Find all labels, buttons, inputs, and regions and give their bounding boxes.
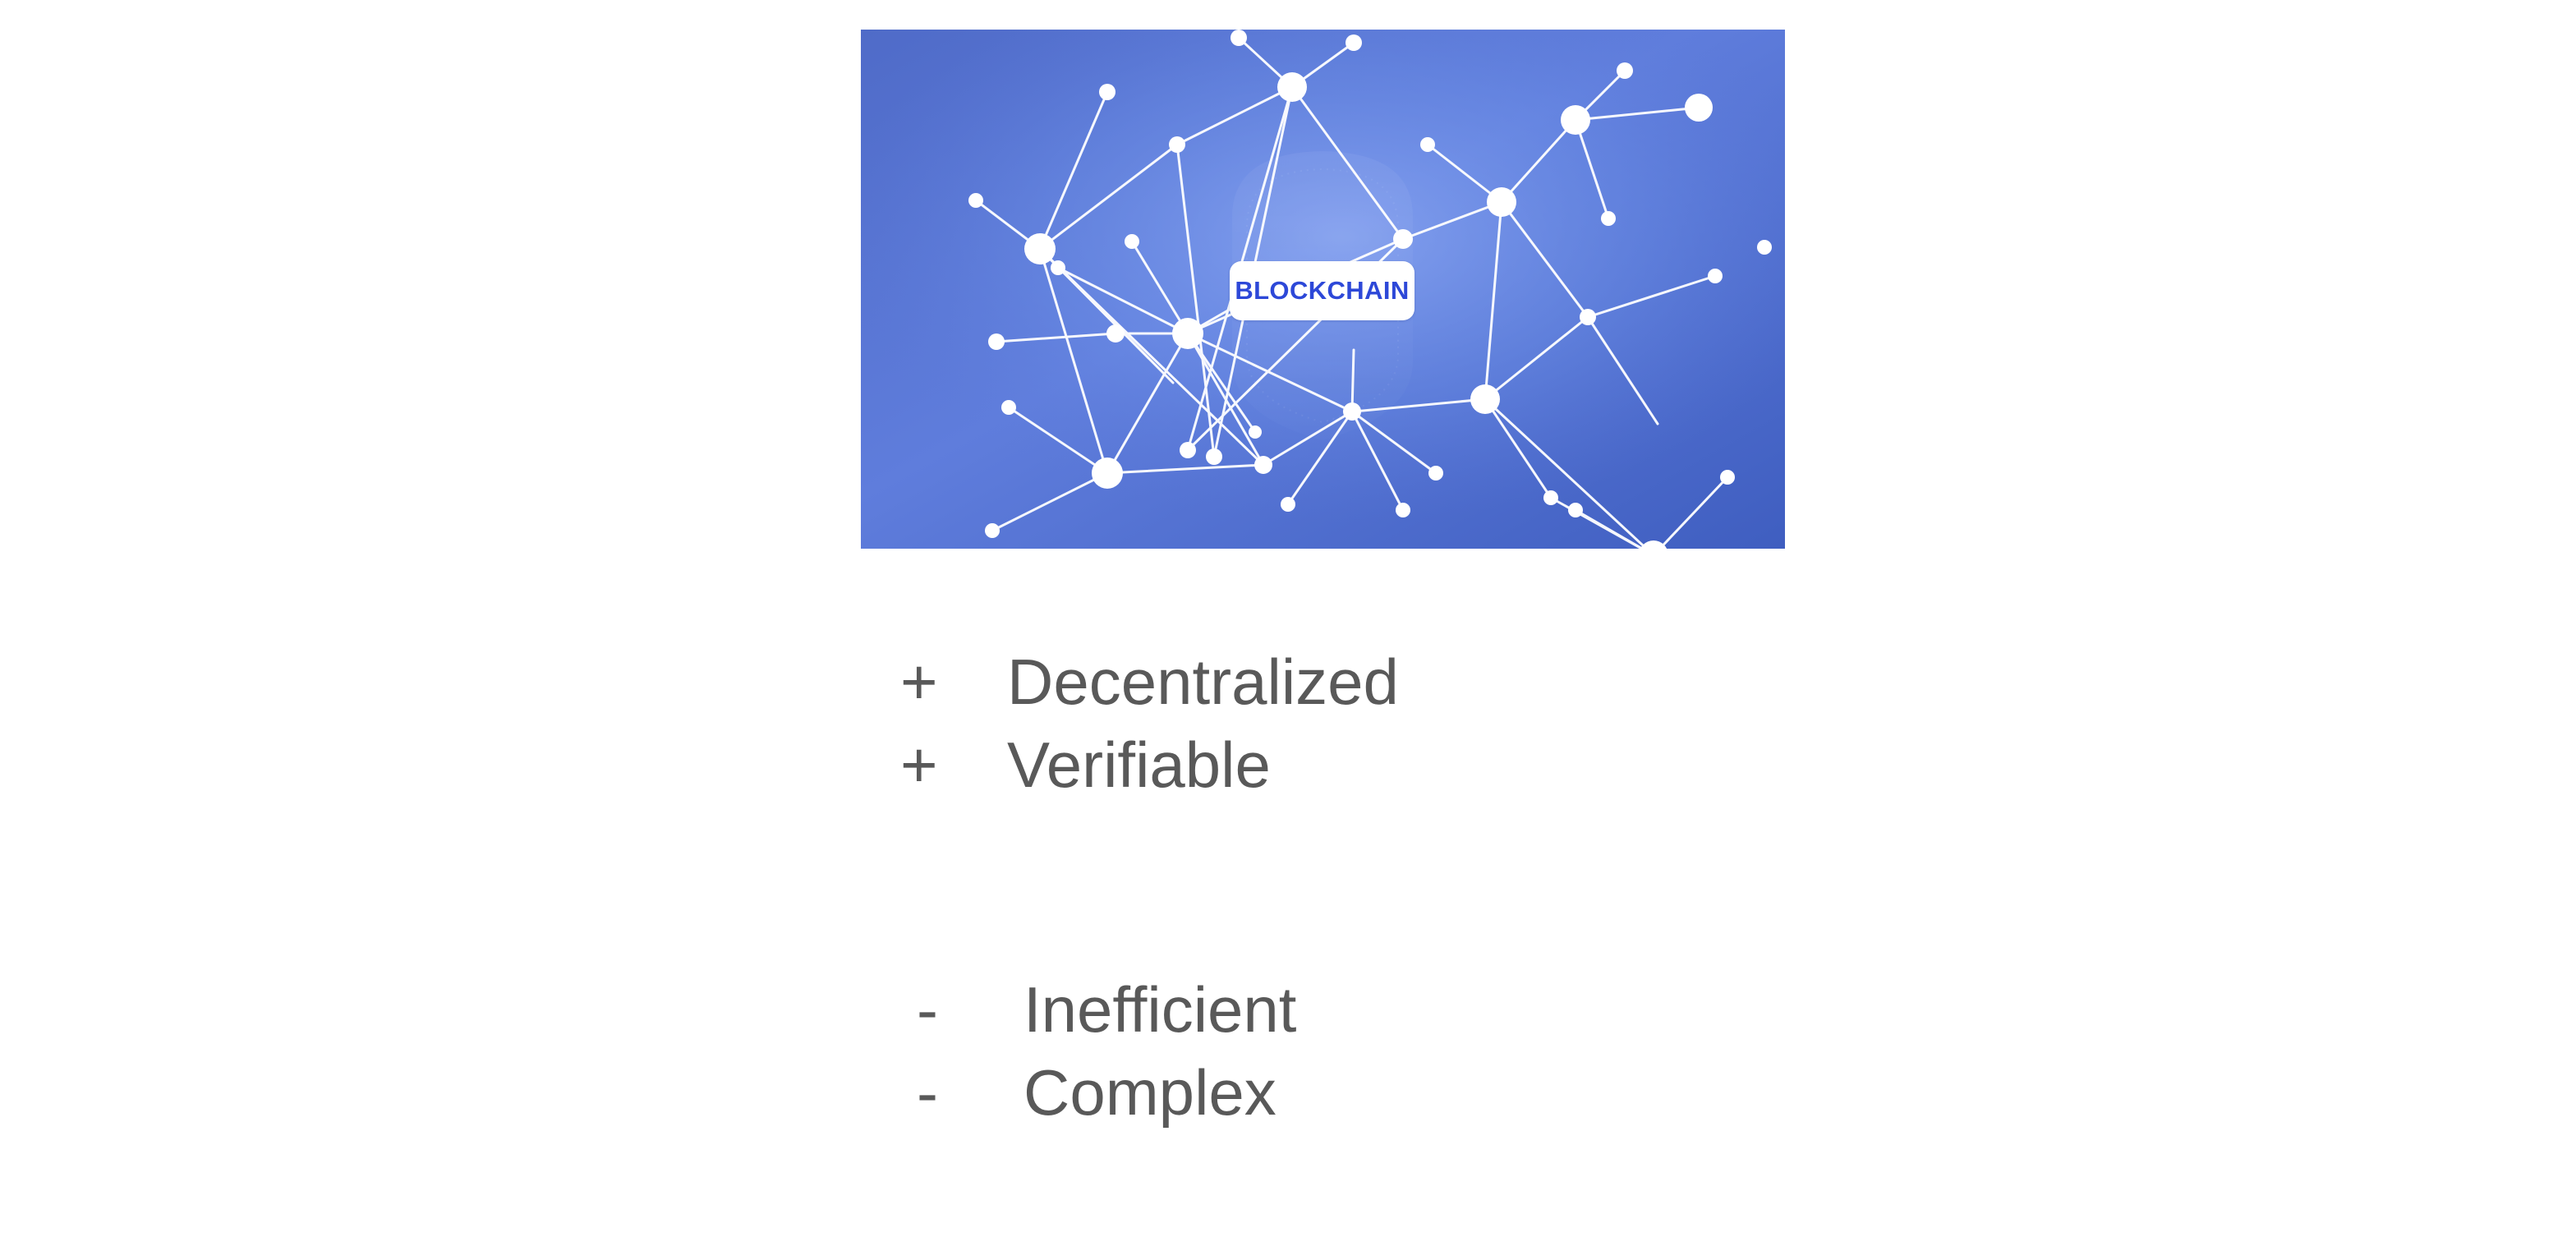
blockchain-label-chip: BLOCKCHAIN <box>1230 261 1414 320</box>
minus-marker-icon: - <box>861 968 1023 1051</box>
pros-group: + Decentralized + Verifiable <box>861 641 1847 807</box>
pros-item-label: Decentralized <box>1007 641 1399 724</box>
plus-marker-icon: + <box>861 724 1007 807</box>
list-item: - Complex <box>861 1051 1847 1134</box>
blockchain-label-text: BLOCKCHAIN <box>1235 276 1409 306</box>
list-item: + Verifiable <box>861 724 1847 807</box>
minus-marker-icon: - <box>861 1051 1023 1134</box>
group-spacer <box>861 807 1847 968</box>
cons-group: - Inefficient - Complex <box>861 968 1847 1134</box>
cons-item-label: Complex <box>1023 1051 1276 1134</box>
list-item: + Decentralized <box>861 641 1847 724</box>
plus-marker-icon: + <box>861 641 1007 724</box>
list-item: - Inefficient <box>861 968 1847 1051</box>
pros-cons-list: + Decentralized + Verifiable - Inefficie… <box>861 641 1847 1134</box>
cons-item-label: Inefficient <box>1023 968 1296 1051</box>
pros-item-label: Verifiable <box>1007 724 1271 807</box>
